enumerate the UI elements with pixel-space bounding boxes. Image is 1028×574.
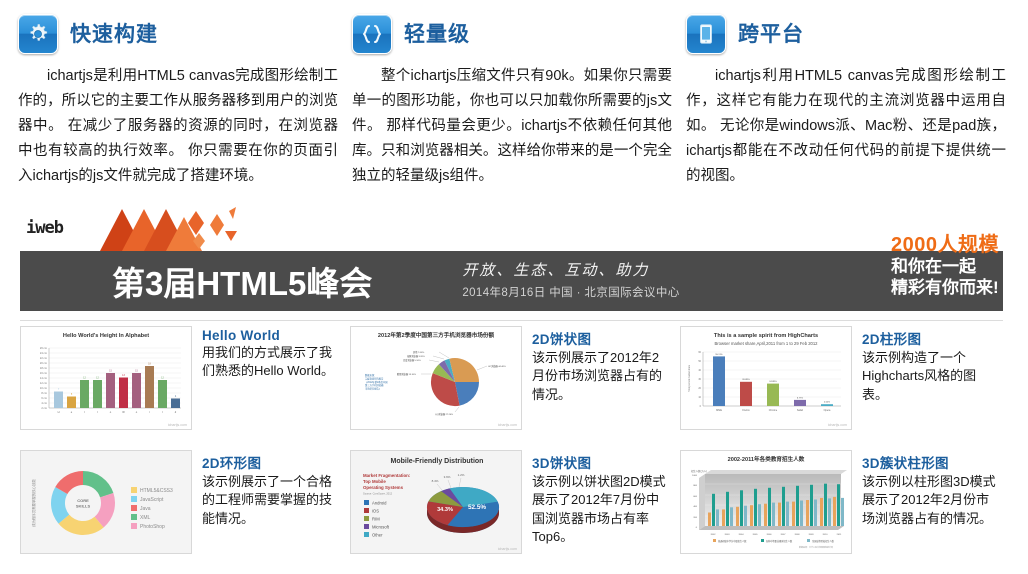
banner-slogan: 开放、生态、互动、助力 bbox=[462, 260, 679, 281]
svg-text:HTML5&CSS3: HTML5&CSS3 bbox=[140, 488, 173, 494]
hello-world-bar-thumb[interactable]: Hello World's Height In Alphabet bbox=[20, 326, 192, 430]
gallery-card-title[interactable]: 3D饼状图 bbox=[532, 452, 672, 472]
chart-gallery: Hello World's Height In Alphabet bbox=[18, 326, 1010, 574]
svg-text:e: e bbox=[71, 411, 73, 414]
svg-text:50: 50 bbox=[698, 360, 701, 363]
gallery-card-text: 2D环形图 该示例展示了一个合格的工程师需要掌握的技能情况。 bbox=[202, 450, 342, 528]
svg-text:H: H bbox=[58, 410, 60, 414]
banner-callout-line2: 和你在一起 bbox=[891, 257, 999, 278]
svg-text:W: W bbox=[122, 410, 125, 414]
banner-date: 2014年8月16日 中国 · 北京国际会议中心 bbox=[462, 285, 679, 301]
gallery-card-text: 3D簇状柱形图 该示例以柱形图3D模式展示了2012年2月份市场浏览器占有的情况… bbox=[862, 450, 1002, 528]
column-2d-thumb[interactable]: This is a sample spirit from HighCharts … bbox=[680, 326, 852, 430]
svg-text:55.11%: 55.11% bbox=[715, 354, 722, 356]
svg-text:CORE: CORE bbox=[77, 498, 89, 503]
svg-text:2005: 2005 bbox=[753, 534, 759, 536]
gallery-card-desc: 该示例展示了2012年2月份市场浏览器占有的情况。 bbox=[532, 349, 672, 404]
svg-text:UC浏览器 44.40%: UC浏览器 44.40% bbox=[488, 364, 506, 368]
svg-text:0: 0 bbox=[696, 527, 698, 529]
svg-text:PhotoShop: PhotoShop bbox=[140, 524, 165, 530]
svg-text:4 cm: 4 cm bbox=[41, 401, 47, 405]
svg-text:d: d bbox=[175, 410, 177, 414]
gallery-card-title[interactable]: 3D簇状柱形图 bbox=[862, 452, 1002, 472]
svg-text:26.89%: 26.89% bbox=[742, 379, 749, 381]
svg-text:2007: 2007 bbox=[781, 534, 787, 536]
gallery-card-pie-2d[interactable]: 2012年第2季度中国第三方手机浏览器市场份额 数据来源： 艾媒咨询研究报告 《… bbox=[348, 326, 678, 450]
gallery-card-desc: 用我们的方式展示了我们熟悉的Hello World。 bbox=[202, 344, 342, 381]
svg-text:2.02%: 2.02% bbox=[824, 402, 830, 404]
svg-text:r: r bbox=[149, 410, 150, 414]
svg-text:Opera: Opera bbox=[824, 409, 831, 412]
svg-text:JavaScript: JavaScript bbox=[140, 497, 164, 503]
feature-card-cross-platform: 跨平台 ichartjs利用HTML5 canvas完成图形绘制工作，这样它有能… bbox=[686, 10, 1006, 189]
svg-text:Market Fragmentation:: Market Fragmentation: bbox=[363, 473, 411, 478]
svg-text:Chrome: Chrome bbox=[769, 409, 778, 412]
svg-text:600: 600 bbox=[693, 496, 697, 498]
svg-text:海豚浏览器 3.20%: 海豚浏览器 3.20% bbox=[407, 354, 425, 358]
pie-3d-chart: Mobile-Friendly Distribution Market Frag… bbox=[351, 451, 522, 554]
svg-text:2011: 2011 bbox=[837, 534, 842, 536]
svg-text:Other: Other bbox=[372, 532, 383, 537]
gallery-card-text: 2D饼状图 该示例展示了2012年2月份市场浏览器占有的情况。 bbox=[532, 326, 672, 404]
svg-text:Operating Systems: Operating Systems bbox=[363, 485, 404, 490]
svg-text:40: 40 bbox=[698, 369, 701, 372]
svg-text:13: 13 bbox=[122, 374, 125, 377]
donut-2d-chart: 成为程序员需要掌握的核心技能 CORE SKILLS HTML5&CSS3 bbox=[21, 451, 192, 554]
chart-source: 数据来源：中华人民共和国国家统计局 bbox=[799, 545, 833, 549]
gallery-card-column-3d[interactable]: 2002-2011年各类教育招生人数 招生人数(万人) bbox=[678, 450, 1008, 574]
gallery-card-desc: 该示例以柱形图3D模式展示了2012年2月份市场浏览器占有的情况。 bbox=[862, 473, 1002, 528]
column-3d-thumb[interactable]: 2002-2011年各类教育招生人数 招生人数(万人) bbox=[680, 450, 852, 554]
banner-logo-strip: iweb bbox=[20, 205, 1003, 251]
banner-title: 第3届HTML5峰会 bbox=[112, 257, 372, 305]
chart-watermark: ichartjs.com bbox=[828, 423, 847, 427]
svg-text:18 cm: 18 cm bbox=[40, 366, 47, 370]
svg-text:3.6%: 3.6% bbox=[444, 475, 451, 479]
gallery-card-desc: 该示例以饼状图2D模式展示了2012年7月份中国浏览器市场占有率Top6。 bbox=[532, 473, 672, 547]
gear-icon bbox=[18, 14, 58, 54]
column-3d-legend: 普通初级中学分中职招生人数 各种中等职业教育招生人数 全国高等院校招生人数 bbox=[713, 539, 835, 543]
chart-watermark: ichartjs.com bbox=[498, 423, 517, 427]
svg-text:l: l bbox=[84, 410, 85, 414]
donut-legend: HTML5&CSS3 JavaScript Java XML PhotoShop bbox=[131, 487, 173, 530]
svg-text:2008: 2008 bbox=[795, 534, 801, 536]
iweb-logo: iweb bbox=[26, 218, 63, 238]
svg-text:XML: XML bbox=[140, 515, 151, 521]
feature-title: 跨平台 bbox=[738, 24, 804, 45]
gallery-card-title[interactable]: Hello World bbox=[202, 328, 342, 343]
iweb-logo-art bbox=[92, 205, 272, 251]
svg-text:26 cm: 26 cm bbox=[40, 346, 47, 350]
svg-text:52.5%: 52.5% bbox=[468, 504, 486, 511]
svg-text:6.77%: 6.77% bbox=[797, 398, 803, 400]
svg-text:欧朋浏览器 13.10%: 欧朋浏览器 13.10% bbox=[397, 372, 416, 376]
hello-world-chart: 26 cm24 cm 22 cm20 cm 18 cm16 cm 14 cm12… bbox=[21, 340, 192, 422]
gallery-card-donut-2d[interactable]: 成为程序员需要掌握的核心技能 CORE SKILLS HTML5&CSS3 bbox=[18, 450, 348, 574]
svg-text:2004: 2004 bbox=[739, 534, 745, 536]
feature-body: ichartjs是利用HTML5 canvas完成图形绘制工作的，所以它的主要工… bbox=[18, 64, 338, 189]
svg-text:Source: ComScore, 2012: Source: ComScore, 2012 bbox=[363, 492, 393, 496]
gallery-card-column-2d[interactable]: This is a sample spirit from HighCharts … bbox=[678, 326, 1008, 450]
braces-icon bbox=[352, 14, 392, 54]
gallery-card-desc: 该示例构造了一个Highcharts风格的图表。 bbox=[862, 349, 1002, 404]
chart-watermark: ichartjs.com bbox=[498, 547, 517, 551]
svg-text:Total percent market share: Total percent market share bbox=[688, 364, 691, 392]
svg-text:10: 10 bbox=[698, 396, 701, 399]
svg-text:10 cm: 10 cm bbox=[40, 386, 47, 390]
svg-text:60: 60 bbox=[698, 351, 701, 354]
svg-text:4: 4 bbox=[175, 395, 177, 398]
svg-text:200: 200 bbox=[693, 517, 697, 519]
feature-title: 快速构建 bbox=[70, 24, 158, 45]
features-row: 快速构建 ichartjs是利用HTML5 canvas完成图形绘制工作的，所以… bbox=[0, 0, 1028, 189]
banner-callout: 2000人规模 和你在一起 精彩有你而来! bbox=[891, 233, 999, 299]
svg-text:艾媒咨询研究报告: 艾媒咨询研究报告 bbox=[365, 377, 384, 381]
svg-text:24 cm: 24 cm bbox=[40, 351, 47, 355]
svg-text:0: 0 bbox=[700, 405, 702, 408]
pie-2d-chart: 数据来源： 艾媒咨询研究报告 《2012年第2季度中国 第三方手机浏览器 市场研… bbox=[351, 340, 522, 422]
gallery-card-pie-3d[interactable]: Mobile-Friendly Distribution Market Frag… bbox=[348, 450, 678, 574]
svg-text:400: 400 bbox=[693, 506, 697, 508]
svg-text:15: 15 bbox=[135, 370, 138, 373]
svg-text:2003: 2003 bbox=[725, 534, 731, 536]
thumb-title: This is a sample spirit from HighCharts bbox=[681, 333, 851, 340]
svg-text:Safari: Safari bbox=[797, 409, 804, 412]
banner-callout-line3: 精彩有你而来! bbox=[891, 278, 999, 299]
svg-text:12 cm: 12 cm bbox=[40, 381, 47, 385]
svg-text:SKILLS: SKILLS bbox=[76, 504, 91, 509]
thumb-title: Hello World's Height In Alphabet bbox=[21, 333, 191, 340]
svg-text:MSIE: MSIE bbox=[716, 409, 722, 412]
feature-card-fast-build: 快速构建 ichartjs是利用HTML5 canvas完成图形绘制工作的，所以… bbox=[18, 10, 338, 189]
feature-header: 快速构建 bbox=[18, 10, 338, 58]
svg-text:2010: 2010 bbox=[823, 534, 829, 536]
svg-text:30: 30 bbox=[698, 378, 701, 381]
svg-text:Firefox: Firefox bbox=[742, 409, 750, 412]
svg-text:RIM: RIM bbox=[372, 516, 380, 521]
banner-divider bbox=[20, 320, 1003, 321]
feature-body: 整个ichartjs压缩文件只有90k。如果你只需要单一的图形功能，你也可以只加… bbox=[352, 64, 672, 189]
gallery-card-title[interactable]: 2D环形图 bbox=[202, 452, 342, 472]
pie-3d-thumb[interactable]: Mobile-Friendly Distribution Market Frag… bbox=[350, 450, 522, 554]
svg-text:Microsoft: Microsoft bbox=[372, 524, 390, 529]
feature-header: 轻量级 bbox=[352, 10, 672, 58]
svg-text:Top Mobile: Top Mobile bbox=[363, 479, 386, 484]
pie-3d-legend: Android iOS RIM Microsoft Other bbox=[364, 500, 390, 537]
gallery-card-text: Hello World 用我们的方式展示了我们熟悉的Hello World。 bbox=[202, 326, 342, 381]
svg-text:o: o bbox=[136, 411, 138, 414]
svg-text:14 cm: 14 cm bbox=[40, 376, 47, 380]
thumb-title: 2012年第2季度中国第三方手机浏览器市场份额 bbox=[351, 333, 521, 340]
svg-text:Java: Java bbox=[140, 506, 151, 512]
svg-text:Android: Android bbox=[372, 500, 387, 505]
banner-scale-text: 2000人规模 bbox=[891, 233, 999, 257]
svg-text:l: l bbox=[162, 410, 163, 414]
gallery-card-text: 3D饼状图 该示例以饼状图2D模式展示了2012年7月份中国浏览器市场占有率To… bbox=[532, 450, 672, 547]
thumb-title: Mobile-Friendly Distribution bbox=[391, 458, 484, 465]
svg-text:2009: 2009 bbox=[809, 534, 815, 536]
gallery-card-desc: 该示例展示了一个合格的工程师需要掌握的技能情况。 bbox=[202, 473, 342, 528]
event-banner[interactable]: iweb 第3届HTML5峰会 开放、生态、互动、助力 2014年8月16日 中… bbox=[20, 205, 1003, 313]
svg-text:7: 7 bbox=[58, 388, 60, 391]
donut-side-label: 成为程序员需要掌握的核心技能 bbox=[31, 479, 36, 527]
tablet-icon bbox=[686, 14, 726, 54]
gallery-card-title[interactable]: 2D柱形图 bbox=[862, 328, 1002, 348]
svg-text:各种中等职业教育招生人数: 各种中等职业教育招生人数 bbox=[766, 539, 793, 543]
gallery-card-title[interactable]: 2D饼状图 bbox=[532, 328, 672, 348]
svg-text:20: 20 bbox=[698, 387, 701, 390]
svg-text:5: 5 bbox=[71, 393, 73, 396]
pie-2d-thumb[interactable]: 2012年第2季度中国第三方手机浏览器市场份额 数据来源： 艾媒咨询研究报告 《… bbox=[350, 326, 522, 430]
svg-text:2006: 2006 bbox=[767, 534, 773, 536]
svg-text:22 cm: 22 cm bbox=[40, 356, 47, 360]
column-2d-chart: 6050 4030 2010 0 Total percent market sh… bbox=[681, 346, 852, 418]
svg-text:2 cm: 2 cm bbox=[41, 406, 47, 410]
chart-watermark: ichartjs.com bbox=[168, 423, 187, 427]
svg-text:20 cm: 20 cm bbox=[40, 361, 47, 365]
svg-text:普通初级中学分中职招生人数: 普通初级中学分中职招生人数 bbox=[718, 539, 747, 543]
svg-text:招生人数(万人): 招生人数(万人) bbox=[691, 469, 707, 473]
svg-text:15: 15 bbox=[109, 370, 112, 373]
column-3d-chart: 招生人数(万人) bbox=[681, 464, 852, 552]
thumb-title: 2002-2011年各类教育招生人数 bbox=[681, 457, 851, 464]
svg-text:其他 7.00%: 其他 7.00% bbox=[413, 350, 424, 354]
banner-slogan-block: 开放、生态、互动、助力 2014年8月16日 中国 · 北京国际会议中心 bbox=[462, 260, 679, 301]
svg-text:34.3%: 34.3% bbox=[437, 507, 453, 513]
feature-body: ichartjs利用HTML5 canvas完成图形绘制工作，这样它有能力在现代… bbox=[686, 64, 1006, 189]
svg-text:l: l bbox=[97, 410, 98, 414]
svg-text:16 cm: 16 cm bbox=[40, 371, 47, 375]
donut-2d-thumb[interactable]: 成为程序员需要掌握的核心技能 CORE SKILLS HTML5&CSS3 bbox=[20, 450, 192, 554]
feature-title: 轻量级 bbox=[404, 24, 470, 45]
page-root: 快速构建 ichartjs是利用HTML5 canvas完成图形绘制工作的，所以… bbox=[0, 0, 1028, 574]
svg-text:8.4%: 8.4% bbox=[432, 479, 439, 483]
feature-header: 跨平台 bbox=[686, 10, 1006, 58]
svg-text:24.89%: 24.89% bbox=[769, 381, 776, 383]
svg-text:1000: 1000 bbox=[692, 475, 698, 477]
svg-text:1.2%: 1.2% bbox=[458, 473, 465, 477]
svg-text:2002: 2002 bbox=[711, 534, 717, 536]
svg-text:数据来源：: 数据来源： bbox=[365, 373, 377, 377]
svg-text:百度浏览器 5.10%: 百度浏览器 5.10% bbox=[403, 358, 421, 362]
gallery-card-text: 2D柱形图 该示例构造了一个Highcharts风格的图表。 bbox=[862, 326, 1002, 404]
svg-text:800: 800 bbox=[693, 485, 697, 487]
svg-text:iOS: iOS bbox=[372, 508, 379, 513]
feature-card-lightweight: 轻量级 整个ichartjs压缩文件只有90k。如果你只需要单一的图形功能，你也… bbox=[352, 10, 672, 189]
gallery-card-hello-world[interactable]: Hello World's Height In Alphabet bbox=[18, 326, 348, 450]
svg-text:QQ浏览器 27.20%: QQ浏览器 27.20% bbox=[435, 412, 453, 416]
svg-text:o: o bbox=[110, 411, 112, 414]
svg-text:全国高等院校招生人数: 全国高等院校招生人数 bbox=[812, 539, 835, 543]
banner-main-bar: 第3届HTML5峰会 开放、生态、互动、助力 2014年8月16日 中国 · 北… bbox=[20, 251, 1003, 311]
svg-text:8 cm: 8 cm bbox=[41, 391, 47, 395]
svg-text:6 cm: 6 cm bbox=[41, 396, 47, 400]
